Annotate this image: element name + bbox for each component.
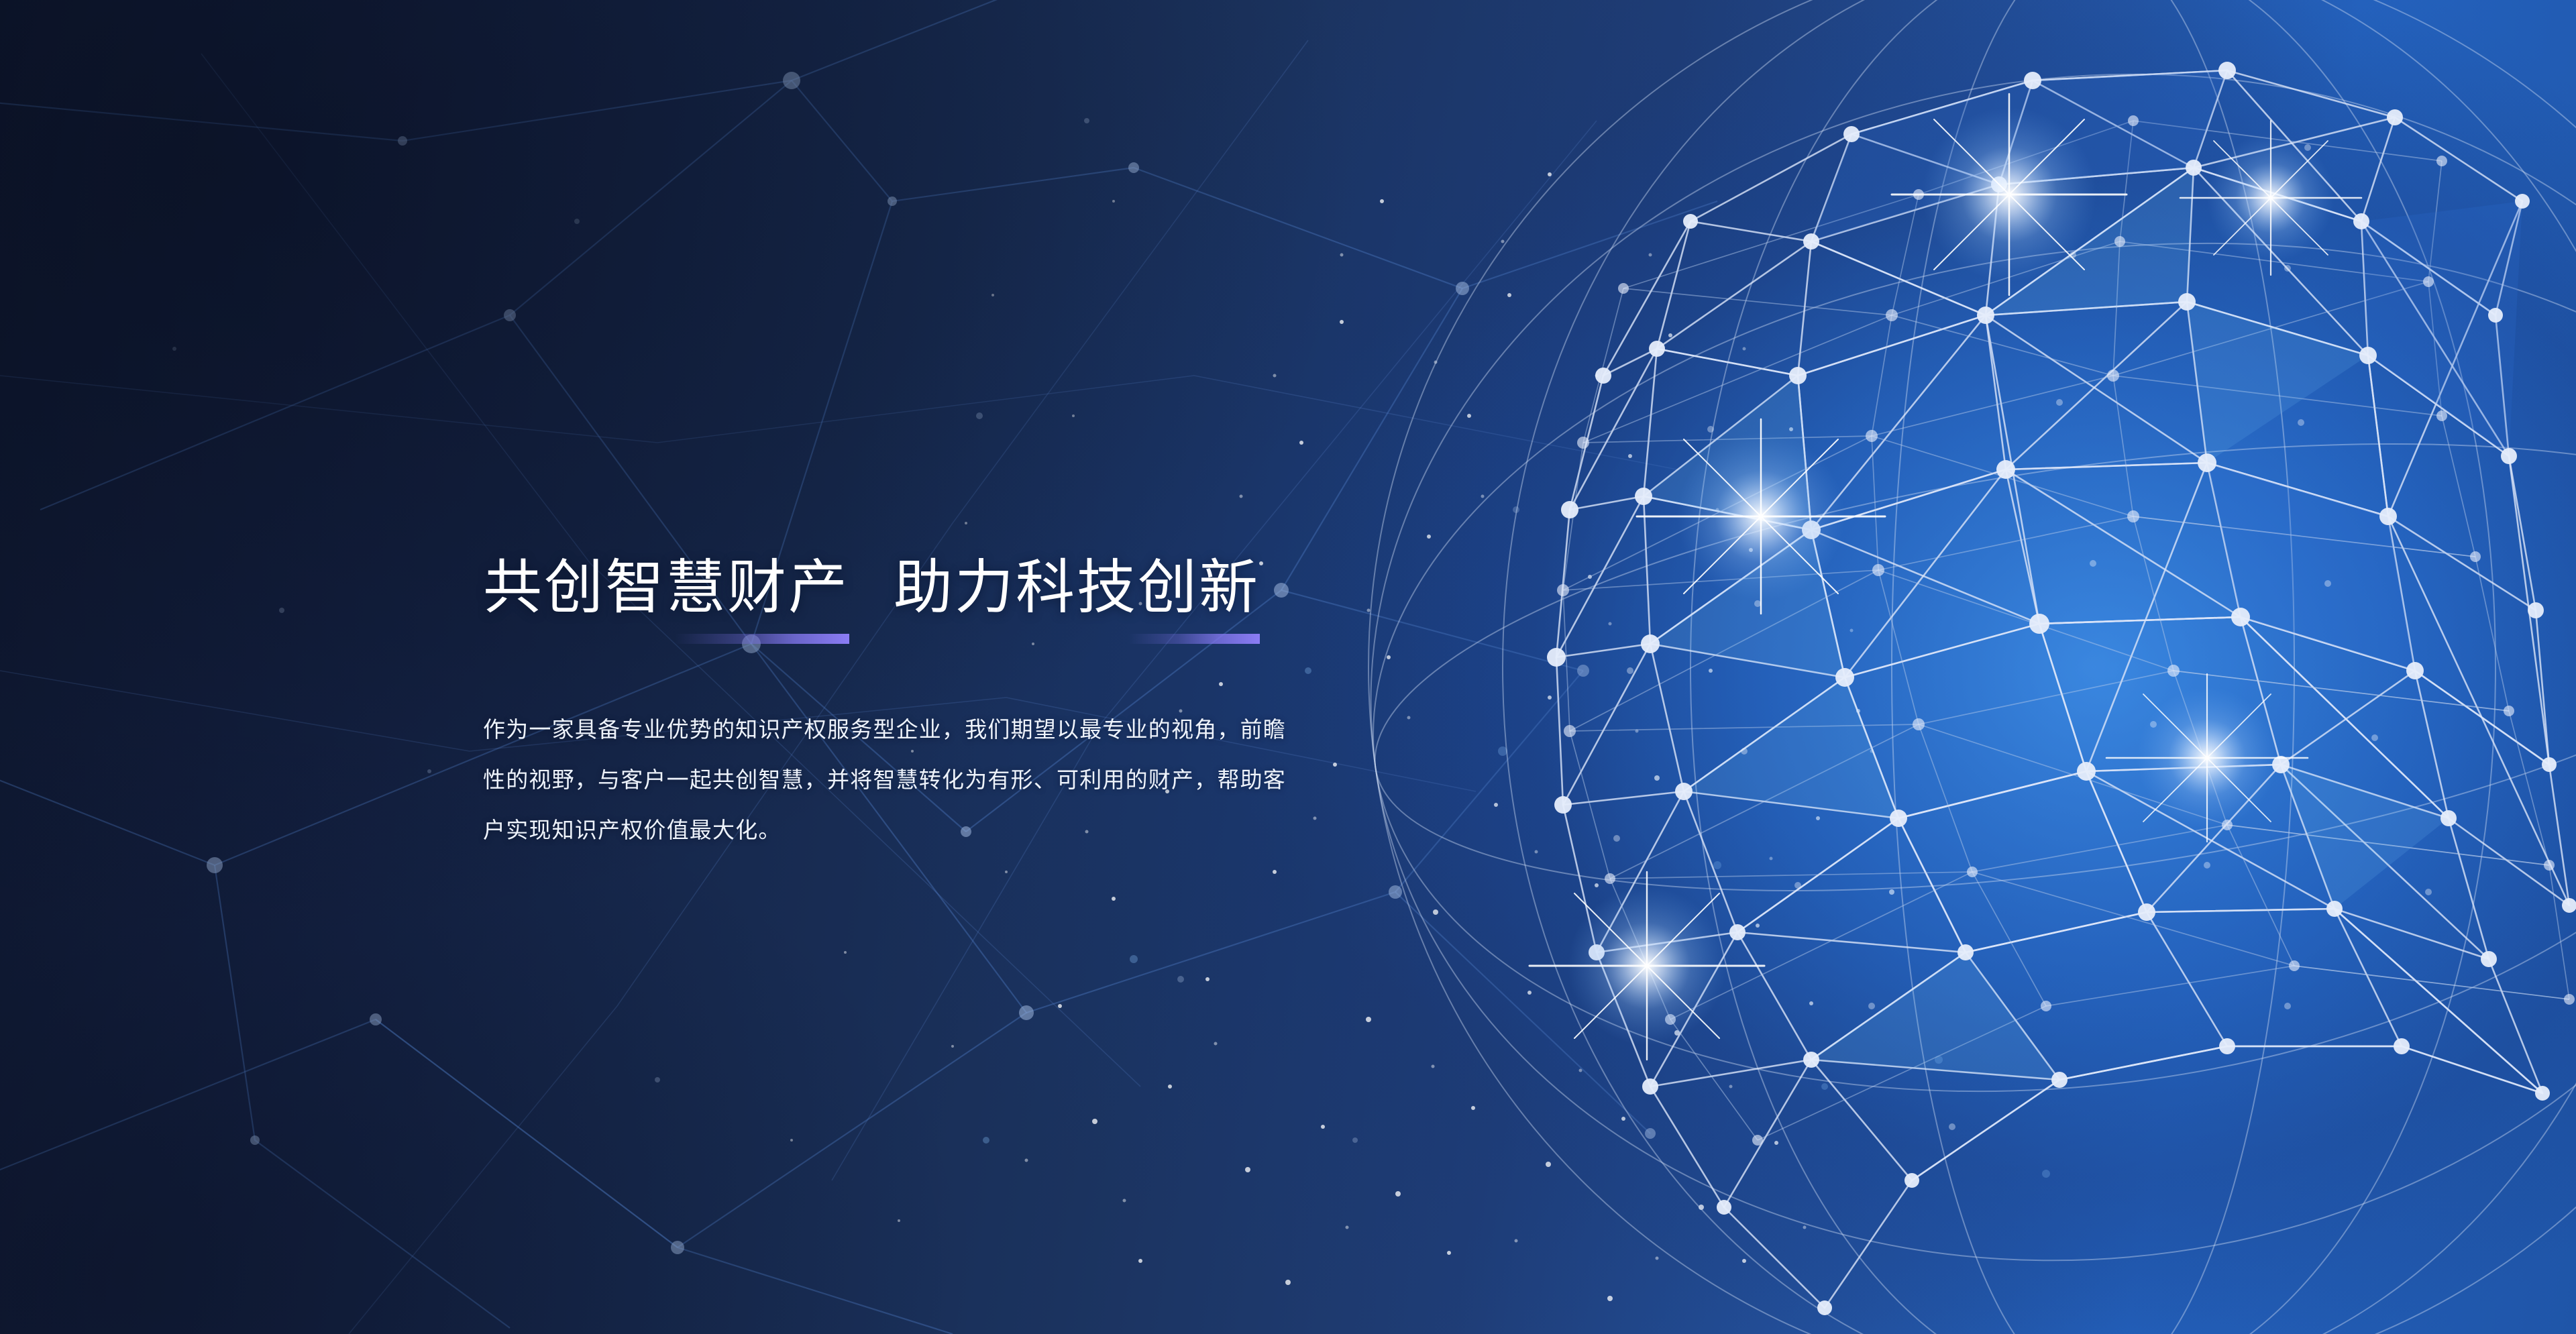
hero-description: 作为一家具备专业优势的知识产权服务型企业，我们期望以最专业的视角，前瞻 性的视野… xyxy=(483,704,1462,855)
headline-phrase-two: 助力科技创新 xyxy=(894,550,1260,625)
description-line-1: 作为一家具备专业优势的知识产权服务型企业，我们期望以最专业的视角，前瞻 xyxy=(483,704,1462,755)
headline-phrase-one-accent: 财产 xyxy=(727,550,849,625)
headline-phrase-one-plain: 共创智慧 xyxy=(483,550,727,625)
description-line-2: 性的视野，与客户一起共创智慧，并将智慧转化为有形、可利用的财产，帮助客 xyxy=(483,755,1462,805)
headline-phrase-two-plain: 助力科技 xyxy=(894,550,1138,625)
page-title: 共创智慧财产 助力科技创新 xyxy=(483,550,1489,625)
headline-phrase-two-accent: 创新 xyxy=(1138,550,1260,625)
headline-accent-underline-two xyxy=(1128,634,1260,644)
headline-accent-underline-one xyxy=(675,634,849,644)
description-line-3: 户实现知识产权价值最大化。 xyxy=(483,805,1462,855)
hero-content: 共创智慧财产 助力科技创新 作为一家具备专业优势的知识产权服务型企业，我们期望以… xyxy=(483,550,1489,855)
headline-phrase-one: 共创智慧财产 xyxy=(483,550,849,625)
hero-banner: 共创智慧财产 助力科技创新 作为一家具备专业优势的知识产权服务型企业，我们期望以… xyxy=(0,0,2576,1334)
